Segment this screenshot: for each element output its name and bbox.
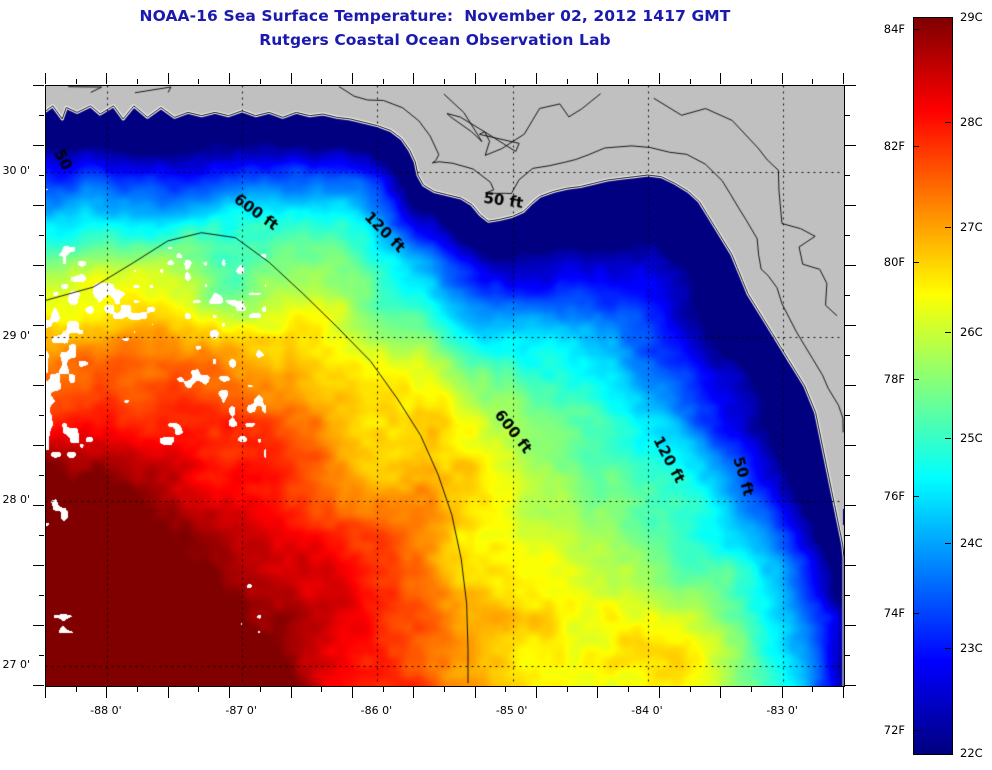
colorbar-label-celsius: 23C <box>960 641 983 655</box>
colorbar-tick <box>945 543 951 544</box>
axis-tick <box>33 205 44 206</box>
figure-title: NOAA-16 Sea Surface Temperature: Novembe… <box>0 4 870 52</box>
colorbar-label-fahrenheit: 76F <box>860 489 905 503</box>
axis-tick <box>720 687 721 698</box>
axis-tick <box>567 687 568 692</box>
colorbar-label-celsius: 22C <box>960 746 983 760</box>
axis-tick <box>845 415 850 416</box>
axis-tick <box>33 325 44 326</box>
axis-tick <box>845 145 856 146</box>
axis-tick <box>39 415 44 416</box>
axis-tick <box>845 205 856 206</box>
axis-tick <box>845 475 850 476</box>
axis-tick <box>33 85 44 86</box>
colorbar-tick <box>913 730 919 731</box>
title-line-1: NOAA-16 Sea Surface Temperature: Novembe… <box>0 4 870 28</box>
axis-tick <box>845 595 850 596</box>
axis-tick <box>260 79 261 84</box>
axis-tick <box>291 73 292 84</box>
axis-tick <box>33 505 44 506</box>
axis-tick <box>33 145 44 146</box>
colorbar-label-fahrenheit: 72F <box>860 723 905 737</box>
axis-tick <box>475 73 476 84</box>
axis-tick <box>845 565 856 566</box>
axis-tick <box>628 79 629 84</box>
axis-tick <box>845 85 856 86</box>
colorbar-tick <box>945 227 951 228</box>
sst-map-figure: NOAA-16 Sea Surface Temperature: Novembe… <box>0 0 992 770</box>
map-plot-area[interactable] <box>45 85 845 687</box>
axis-tick <box>845 445 856 446</box>
axis-tick <box>659 73 660 84</box>
axis-tick <box>597 73 598 84</box>
axis-tick <box>690 79 691 84</box>
colorbar-label-celsius: 24C <box>960 536 983 550</box>
colorbar-tick <box>913 613 919 614</box>
axis-tick <box>505 79 506 84</box>
axis-tick <box>39 475 44 476</box>
axis-tick <box>845 325 856 326</box>
axis-tick <box>659 687 660 698</box>
axis-tick <box>475 687 476 698</box>
axis-tick <box>690 687 691 692</box>
colorbar-label-celsius: 27C <box>960 220 983 234</box>
axis-tick <box>812 687 813 692</box>
axis-tick <box>39 595 44 596</box>
colorbar-label-celsius: 29C <box>960 10 983 24</box>
colorbar-tick <box>913 29 919 30</box>
axis-tick <box>198 79 199 84</box>
colorbar-label-celsius: 26C <box>960 325 983 339</box>
axis-tick <box>845 175 850 176</box>
axis-tick <box>39 175 44 176</box>
axis-tick <box>845 655 850 656</box>
axis-tick <box>33 565 44 566</box>
colorbar-tick <box>913 146 919 147</box>
axis-tick <box>33 265 44 266</box>
axis-tick <box>229 687 230 698</box>
axis-tick <box>845 295 850 296</box>
axis-tick <box>597 687 598 698</box>
axis-tick <box>812 79 813 84</box>
axis-tick <box>751 687 752 692</box>
axis-tick <box>843 687 844 698</box>
axis-tick <box>444 687 445 692</box>
axis-tick <box>39 235 44 236</box>
x-axis-label: -84 0' <box>612 704 682 717</box>
axis-tick <box>168 73 169 84</box>
axis-tick <box>845 265 856 266</box>
colorbar-label-celsius: 28C <box>960 115 983 129</box>
axis-tick <box>413 73 414 84</box>
axis-tick <box>383 687 384 692</box>
y-axis-label: 30 0' <box>0 164 30 177</box>
coastline-contour-overlay <box>46 86 844 686</box>
axis-tick <box>845 685 856 686</box>
colorbar-label-fahrenheit: 80F <box>860 255 905 269</box>
axis-tick <box>229 73 230 84</box>
axis-tick <box>291 687 292 698</box>
colorbar-tick <box>945 648 951 649</box>
axis-tick <box>39 535 44 536</box>
axis-tick <box>751 79 752 84</box>
axis-tick <box>45 687 46 698</box>
x-axis-label: -86 0' <box>341 704 411 717</box>
colorbar[interactable] <box>913 17 953 755</box>
axis-tick <box>444 79 445 84</box>
axis-tick <box>137 79 138 84</box>
axis-tick <box>106 687 107 698</box>
axis-tick <box>33 625 44 626</box>
colorbar-tick <box>945 438 951 439</box>
axis-tick <box>845 115 850 116</box>
colorbar-label-fahrenheit: 84F <box>860 22 905 36</box>
axis-tick <box>845 625 856 626</box>
x-axis-label: -87 0' <box>206 704 276 717</box>
x-axis-label: -83 0' <box>747 704 817 717</box>
axis-tick <box>845 355 850 356</box>
axis-tick <box>845 505 856 506</box>
axis-tick <box>321 79 322 84</box>
axis-tick <box>39 295 44 296</box>
colorbar-label-fahrenheit: 78F <box>860 372 905 386</box>
axis-tick <box>33 445 44 446</box>
colorbar-tick <box>945 122 951 123</box>
colorbar-label-fahrenheit: 74F <box>860 606 905 620</box>
axis-tick <box>76 79 77 84</box>
axis-tick <box>76 687 77 692</box>
axis-tick <box>198 687 199 692</box>
axis-tick <box>106 73 107 84</box>
axis-tick <box>352 73 353 84</box>
axis-tick <box>260 687 261 692</box>
axis-tick <box>383 79 384 84</box>
axis-tick <box>505 687 506 692</box>
axis-tick <box>843 73 844 84</box>
colorbar-label-fahrenheit: 82F <box>860 139 905 153</box>
axis-tick <box>33 685 44 686</box>
title-line-2: Rutgers Coastal Ocean Observation Lab <box>0 28 870 52</box>
colorbar-gradient <box>914 18 952 754</box>
x-axis-label: -88 0' <box>71 704 141 717</box>
x-axis-label: -85 0' <box>477 704 547 717</box>
y-axis-label: 27 0' <box>0 658 30 671</box>
colorbar-tick <box>913 379 919 380</box>
y-axis-label: 28 0' <box>0 493 30 506</box>
axis-tick <box>782 687 783 698</box>
axis-tick <box>628 687 629 692</box>
axis-tick <box>567 79 568 84</box>
axis-tick <box>45 73 46 84</box>
axis-tick <box>845 235 850 236</box>
colorbar-tick <box>913 496 919 497</box>
axis-tick <box>39 355 44 356</box>
axis-tick <box>845 385 856 386</box>
axis-tick <box>168 687 169 698</box>
axis-tick <box>321 687 322 692</box>
axis-tick <box>720 73 721 84</box>
axis-tick <box>536 687 537 698</box>
y-axis-label: 29 0' <box>0 329 30 342</box>
colorbar-label-celsius: 25C <box>960 431 983 445</box>
axis-tick <box>782 73 783 84</box>
axis-tick <box>39 115 44 116</box>
axis-tick <box>845 535 850 536</box>
axis-tick <box>413 687 414 698</box>
axis-tick <box>39 655 44 656</box>
axis-tick <box>536 73 537 84</box>
colorbar-tick <box>945 332 951 333</box>
colorbar-tick <box>913 262 919 263</box>
axis-tick <box>352 687 353 698</box>
axis-tick <box>137 687 138 692</box>
axis-tick <box>33 385 44 386</box>
